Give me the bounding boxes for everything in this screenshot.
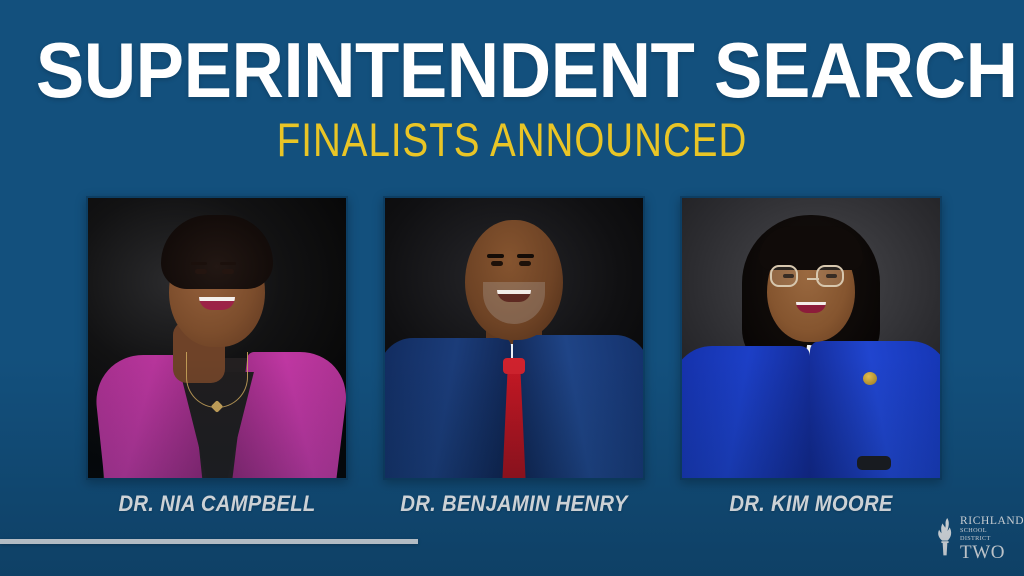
finalist-card	[383, 196, 645, 480]
richland-school-district-two-logo: RICHLAND SCHOOL DISTRICT TWO	[934, 515, 1016, 561]
photo-frame	[86, 196, 348, 480]
finalist-name-label: DR. NIA CAMPBELL	[96, 491, 337, 517]
finalists-row	[86, 196, 942, 480]
page-title: SUPERINTENDENT SEARCH	[36, 30, 988, 110]
eye-left-shape	[195, 269, 207, 274]
eyeglass-bridge-icon	[807, 278, 819, 280]
logo-line-school-district: SCHOOL DISTRICT	[960, 527, 1018, 543]
eyebrow-right-shape	[517, 254, 534, 258]
finalist-name-label: DR. BENJAMIN HENRY	[393, 491, 634, 517]
eyebrow-right-shape	[220, 262, 236, 265]
eyebrow-left-shape	[191, 262, 207, 265]
eye-right-shape	[222, 269, 234, 274]
footer-divider	[0, 539, 418, 544]
eyebrow-left-shape	[487, 254, 504, 258]
blazer-right-shape	[232, 352, 346, 478]
finalist-photo-nia-campbell	[88, 198, 346, 478]
suit-right-shape	[513, 335, 643, 478]
finalist-name-label: DR. KIM MOORE	[690, 491, 931, 517]
page-subtitle: FINALISTS ANNOUNCED	[92, 114, 932, 166]
eyeglass-right-icon	[816, 265, 844, 287]
finalist-photo-kim-moore	[682, 198, 940, 478]
bangs-shape	[759, 226, 863, 270]
blazer-left-shape	[682, 346, 810, 478]
photo-frame	[383, 196, 645, 480]
hair-shape	[161, 215, 273, 289]
finalist-card	[86, 196, 348, 480]
lapel-pin-icon	[863, 372, 877, 385]
logo-wordmark: RICHLAND SCHOOL DISTRICT TWO	[960, 515, 1018, 563]
poster-canvas: SUPERINTENDENT SEARCH FINALISTS ANNOUNCE…	[0, 0, 1024, 576]
eyeglass-left-icon	[770, 265, 798, 287]
eye-left-shape	[491, 261, 503, 266]
logo-line-richland: RICHLAND	[960, 515, 1018, 527]
photo-frame	[680, 196, 942, 480]
suit-left-shape	[385, 338, 511, 478]
logo-line-two: TWO	[960, 543, 1018, 563]
torch-flame-icon	[934, 517, 958, 557]
finalist-card	[680, 196, 942, 480]
finalist-photo-benjamin-henry	[385, 198, 643, 478]
wristwatch-shape	[857, 456, 891, 470]
necktie-knot-shape	[503, 358, 525, 374]
title-block: SUPERINTENDENT SEARCH FINALISTS ANNOUNCE…	[0, 30, 1024, 166]
eye-right-shape	[519, 261, 531, 266]
